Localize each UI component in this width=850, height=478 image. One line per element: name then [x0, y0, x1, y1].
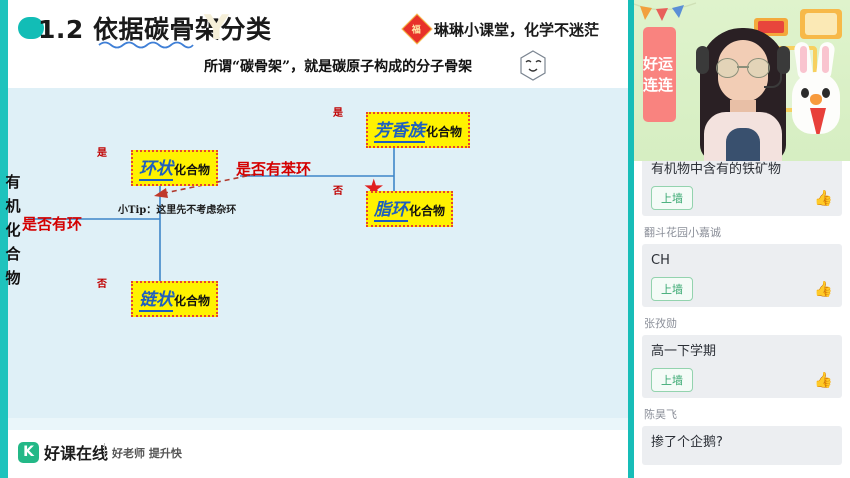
fu-badge-icon: 福	[401, 13, 432, 44]
chat-message-list[interactable]: 有机物中含有的铁矿物 上墙 👍 翻斗花园小嘉诚 CH 上墙 👍	[634, 161, 850, 478]
list-item: 有机物中含有的铁矿物 上墙 👍	[634, 161, 850, 216]
slide-subtitle: 所谓“碳骨架”，就是碳原子构成的分子骨架	[204, 56, 472, 76]
thumbs-up-icon[interactable]: 👍	[814, 373, 833, 388]
glasses-bridge	[737, 66, 749, 68]
chat-username: 陈昊飞	[644, 406, 842, 422]
mindmap-node-alicyclic: 脂环 化合物	[366, 191, 453, 227]
chat-bubble: CH 上墙 👍	[642, 244, 842, 307]
rabbit-mascot-icon	[784, 42, 844, 142]
live-class-screen: 1.2 依据碳骨架分类 Y 福 琳琳小课堂，化学不迷茫 所谓“碳骨架”，就是碳原…	[0, 0, 850, 478]
glasses-icon	[714, 58, 772, 76]
node-hand-text: 芳香族	[374, 116, 425, 143]
branch-label-benzene-no: 否	[333, 182, 343, 197]
list-item: 张孜勋 高一下学期 上墙 👍	[634, 315, 850, 398]
thumbs-up-icon[interactable]: 👍	[814, 282, 833, 297]
chat-bubble: 掺了个企鹅?	[642, 426, 842, 465]
chat-username: 翻斗花园小嘉诚	[644, 224, 842, 240]
footer-brand-title: 好课在线	[44, 440, 108, 464]
lucky-banner-text: 好运连连	[643, 54, 676, 96]
rabbit-ear-inner-right	[822, 46, 829, 73]
chat-message-text: CH	[651, 252, 833, 270]
mindmap-tip-note: 小Tip：这里先不考虑杂环	[118, 201, 236, 216]
node-hand-text: 环状	[139, 154, 173, 181]
slide-area: 1.2 依据碳骨架分类 Y 福 琳琳小课堂，化学不迷茫 所谓“碳骨架”，就是碳原…	[0, 0, 634, 478]
mindmap-board: ★	[8, 88, 628, 418]
fu-badge-label: 福	[412, 22, 421, 35]
node-hand-text: 脂环	[374, 195, 408, 222]
brand-line: 福 琳琳小课堂，化学不迷茫	[406, 18, 599, 40]
teacher-shirt	[726, 128, 760, 161]
chat-message-text: 掺了个企鹅?	[651, 434, 833, 452]
mindmap-node-cyclic: 环状 化合物	[131, 150, 218, 186]
right-panel: 好运连连	[634, 0, 850, 478]
post-to-wall-button[interactable]: 上墙	[651, 277, 693, 301]
condition-has-ring: 是否有环	[22, 213, 82, 234]
teacher-video-tile[interactable]: 好运连连	[634, 0, 850, 161]
slide-footer: K 好课在线 好老师 提升快	[8, 430, 630, 478]
footer-slogan: 好老师 提升快	[112, 445, 182, 461]
rabbit-nose	[810, 94, 822, 105]
rabbit-eye-left	[801, 88, 809, 98]
brand-slogan: 琳琳小课堂，化学不迷茫	[434, 19, 599, 40]
glasses-lens-left	[716, 58, 739, 78]
branch-label-ring-yes: 是	[97, 144, 107, 159]
post-to-wall-button[interactable]: 上墙	[651, 368, 693, 392]
mindmap-connectors	[8, 88, 628, 418]
branch-label-ring-no: 否	[97, 275, 107, 290]
teacher-avatar	[700, 20, 786, 161]
list-item: 翻斗花园小嘉诚 CH 上墙 👍	[634, 224, 850, 307]
thumbs-up-icon[interactable]: 👍	[814, 191, 833, 206]
rabbit-ear-inner-left	[800, 46, 807, 73]
wall-frame-medium-inner	[805, 13, 837, 35]
branch-label-benzene-yes: 是	[333, 104, 343, 119]
chat-bubble-actions: 上墙 👍	[651, 277, 833, 301]
decorative-letter: Y	[204, 8, 229, 48]
board-bottom-strip	[8, 418, 628, 430]
node-plain-text: 化合物	[174, 292, 210, 309]
chat-bubble-actions: 上墙 👍	[651, 368, 833, 392]
condition-has-benzene-ring: 是否有苯环	[236, 158, 311, 179]
list-item: 陈昊飞 掺了个企鹅?	[634, 406, 850, 465]
rabbit-eye-right	[822, 88, 830, 98]
footer-divider	[104, 443, 105, 459]
chat-message-text: 有机物中含有的铁矿物	[651, 161, 833, 179]
glasses-lens-right	[747, 58, 770, 78]
hexagon-smiley-icon	[519, 50, 547, 81]
chat-bubble-actions: 上墙 👍	[651, 186, 833, 210]
slide-header: 1.2 依据碳骨架分类 Y 福 琳琳小课堂，化学不迷茫 所谓“碳骨架”，就是碳原…	[8, 0, 630, 88]
headset-cup-right	[777, 46, 790, 74]
mindmap-node-chain: 链状 化合物	[131, 281, 218, 317]
chat-bubble: 高一下学期 上墙 👍	[642, 335, 842, 398]
mindmap-node-aromatic: 芳香族 化合物	[366, 112, 470, 148]
post-to-wall-button[interactable]: 上墙	[651, 186, 693, 210]
title-wave-underline	[98, 40, 194, 49]
chat-message-text: 高一下学期	[651, 343, 833, 361]
lucky-banner: 好运连连	[643, 27, 676, 122]
chat-username: 张孜勋	[644, 315, 842, 331]
node-plain-text: 化合物	[174, 161, 210, 178]
brand-logo-icon: K	[18, 442, 39, 463]
mindmap-root-label: 有机化合物	[4, 170, 22, 290]
node-hand-text: 链状	[139, 285, 173, 312]
node-plain-text: 化合物	[426, 123, 462, 140]
chat-bubble: 有机物中含有的铁矿物 上墙 👍	[642, 161, 842, 216]
headset-cup-left	[696, 46, 709, 74]
node-plain-text: 化合物	[409, 202, 445, 219]
